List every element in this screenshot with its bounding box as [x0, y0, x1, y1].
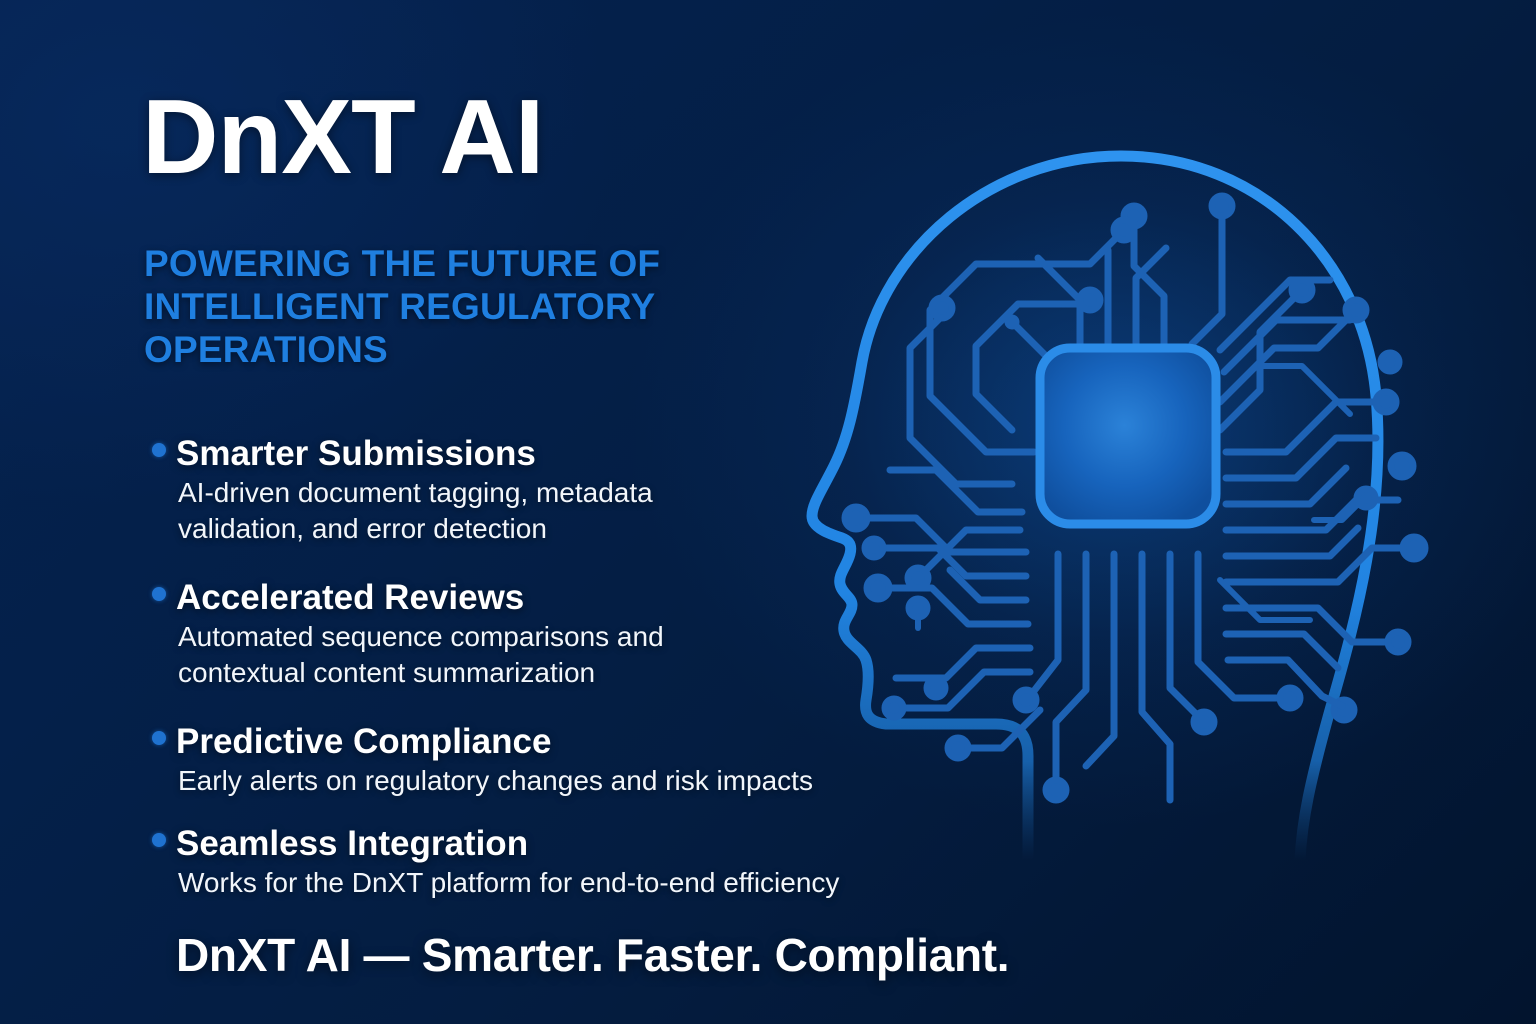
- bullet-dot-icon: [152, 731, 166, 745]
- page-subtitle: POWERING THE FUTURE OF INTELLIGENT REGUL…: [144, 243, 824, 372]
- list-item: Accelerated Reviews Automated sequence c…: [143, 578, 778, 691]
- ai-head-circuit-illustration: [790, 100, 1470, 860]
- bullet-dot-icon: [152, 587, 166, 601]
- cpu-chip-icon: [1040, 348, 1216, 524]
- feature-description: Works for the DnXT platform for end-to-e…: [178, 865, 1008, 901]
- bullet-dot-icon: [152, 833, 166, 847]
- feature-description: AI-driven document tagging, metadata val…: [178, 475, 778, 547]
- poster-canvas: DnXT AI POWERING THE FUTURE OF INTELLIGE…: [0, 0, 1536, 1024]
- feature-heading: Accelerated Reviews: [176, 578, 778, 617]
- page-title: DnXT AI: [142, 84, 543, 190]
- tagline: DnXT AI — Smarter. Faster. Compliant.: [176, 930, 1009, 981]
- list-item: Smarter Submissions AI-driven document t…: [143, 434, 778, 547]
- feature-description: Automated sequence comparisons and conte…: [178, 619, 778, 691]
- bullet-dot-icon: [152, 443, 166, 457]
- content-column: DnXT AI POWERING THE FUTURE OF INTELLIGE…: [0, 0, 880, 1024]
- feature-heading: Smarter Submissions: [176, 434, 778, 473]
